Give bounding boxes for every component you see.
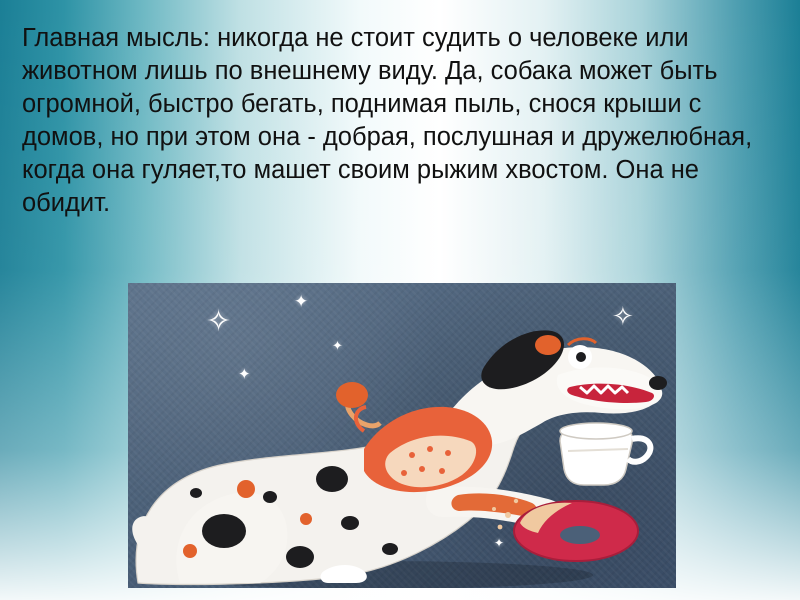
dog-nose bbox=[649, 376, 667, 390]
dog-spot bbox=[263, 491, 277, 503]
dog-orange-spot bbox=[336, 382, 368, 408]
illustration-container: ✧ ✦ ✦ ✦ ✧ ✦ ✦ ✦ ✦ bbox=[128, 283, 676, 588]
dog-eyebrow bbox=[568, 339, 596, 345]
dog-spot bbox=[316, 466, 348, 492]
dog-spot bbox=[190, 488, 202, 498]
slide-body-text: Главная мысль: никогда не стоит судить о… bbox=[22, 22, 778, 220]
orange-spot-head bbox=[535, 335, 561, 355]
dog-orange-spot bbox=[300, 513, 312, 525]
dog-spot bbox=[341, 516, 359, 530]
dog-pupil bbox=[576, 352, 586, 362]
dog-spot bbox=[286, 546, 314, 568]
presentation-slide: Главная мысль: никогда не стоит судить о… bbox=[0, 0, 800, 600]
dog-illustration bbox=[128, 283, 676, 588]
dog-spot bbox=[382, 543, 398, 555]
dog-orange-spot bbox=[237, 480, 255, 498]
dog-orange-spot bbox=[183, 544, 197, 558]
dog-spot bbox=[202, 514, 246, 548]
